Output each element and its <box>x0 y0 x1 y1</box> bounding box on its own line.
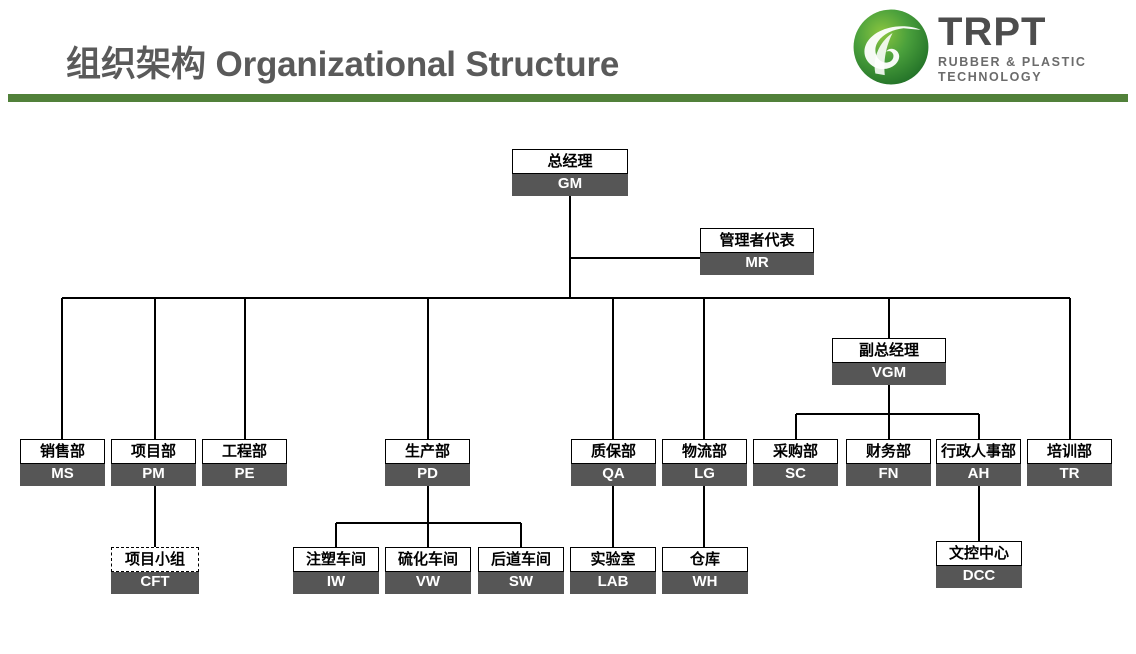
org-node-vgm-name: 副总经理 <box>832 338 946 363</box>
org-node-qa[interactable]: 质保部 QA <box>571 439 656 486</box>
org-node-mr[interactable]: 管理者代表 MR <box>700 228 814 275</box>
org-node-cft-name: 项目小组 <box>111 547 199 572</box>
org-node-iw-name: 注塑车间 <box>293 547 379 572</box>
org-node-pd-name: 生产部 <box>385 439 470 464</box>
page-title-english-text: Organizational Structure <box>216 45 620 84</box>
org-node-pm-code: PM <box>111 464 196 486</box>
org-node-sc-name: 采购部 <box>753 439 838 464</box>
slide-canvas: 组织架构 Organizational Structure TRPT RUBBE… <box>0 0 1136 654</box>
org-node-vw-name: 硫化车间 <box>385 547 471 572</box>
org-node-ms[interactable]: 销售部 MS <box>20 439 105 486</box>
trpt-leaf-emblem-icon <box>852 8 930 86</box>
org-node-gm-code: GM <box>512 174 628 196</box>
org-node-vw-code: VW <box>385 572 471 594</box>
company-logo: TRPT RUBBER & PLASTIC TECHNOLOGY <box>852 4 1124 88</box>
org-node-lab-code: LAB <box>570 572 656 594</box>
org-node-sc-code: SC <box>753 464 838 486</box>
org-node-fn-name: 财务部 <box>846 439 931 464</box>
org-node-tr[interactable]: 培训部 TR <box>1027 439 1112 486</box>
org-node-sc[interactable]: 采购部 SC <box>753 439 838 486</box>
org-node-pe[interactable]: 工程部 PE <box>202 439 287 486</box>
org-node-sw[interactable]: 后道车间 SW <box>478 547 564 594</box>
org-node-pd-code: PD <box>385 464 470 486</box>
org-node-gm-name: 总经理 <box>512 149 628 174</box>
org-node-lg[interactable]: 物流部 LG <box>662 439 747 486</box>
org-node-mr-name: 管理者代表 <box>700 228 814 253</box>
org-node-qa-name: 质保部 <box>571 439 656 464</box>
org-node-iw-code: IW <box>293 572 379 594</box>
org-node-cft-code: CFT <box>111 572 199 594</box>
logo-tagline-line1: RUBBER & PLASTIC <box>938 55 1124 70</box>
org-node-pm[interactable]: 项目部 PM <box>111 439 196 486</box>
org-node-fn[interactable]: 财务部 FN <box>846 439 931 486</box>
logo-wordmark: TRPT RUBBER & PLASTIC TECHNOLOGY <box>938 12 1124 85</box>
org-node-ms-code: MS <box>20 464 105 486</box>
org-node-ah[interactable]: 行政人事部 AH <box>936 439 1021 486</box>
org-node-pe-code: PE <box>202 464 287 486</box>
org-node-pm-name: 项目部 <box>111 439 196 464</box>
org-node-lg-name: 物流部 <box>662 439 747 464</box>
page-title-chinese: 组织架构 <box>66 45 206 85</box>
org-node-pe-name: 工程部 <box>202 439 287 464</box>
org-node-tr-code: TR <box>1027 464 1112 486</box>
org-node-sw-code: SW <box>478 572 564 594</box>
org-node-ah-name: 行政人事部 <box>936 439 1021 464</box>
org-node-ah-code: AH <box>936 464 1021 486</box>
org-node-cft[interactable]: 项目小组 CFT <box>111 547 199 594</box>
org-node-pd[interactable]: 生产部 PD <box>385 439 470 486</box>
title-underline-rule <box>8 94 1128 102</box>
org-node-dcc[interactable]: 文控中心 DCC <box>936 541 1022 588</box>
org-node-vgm-code: VGM <box>832 363 946 385</box>
org-node-wh-code: WH <box>662 572 748 594</box>
org-node-lab-name: 实验室 <box>570 547 656 572</box>
page-title-english <box>206 45 216 84</box>
org-node-vgm[interactable]: 副总经理 VGM <box>832 338 946 385</box>
org-node-dcc-code: DCC <box>936 566 1022 588</box>
org-node-ms-name: 销售部 <box>20 439 105 464</box>
org-chart: 总经理 GM 管理者代表 MR 副总经理 VGM 销售部 MS 项目部 PM 工… <box>0 104 1136 654</box>
org-node-dcc-name: 文控中心 <box>936 541 1022 566</box>
org-node-tr-name: 培训部 <box>1027 439 1112 464</box>
logo-tagline-line2: TECHNOLOGY <box>938 70 1124 85</box>
org-node-lg-code: LG <box>662 464 747 486</box>
org-node-vw[interactable]: 硫化车间 VW <box>385 547 471 594</box>
org-node-iw[interactable]: 注塑车间 IW <box>293 547 379 594</box>
slide-header: 组织架构 Organizational Structure TRPT RUBBE… <box>0 0 1136 104</box>
org-node-mr-code: MR <box>700 253 814 275</box>
org-node-fn-code: FN <box>846 464 931 486</box>
org-node-sw-name: 后道车间 <box>478 547 564 572</box>
org-node-qa-code: QA <box>571 464 656 486</box>
org-node-lab[interactable]: 实验室 LAB <box>570 547 656 594</box>
page-title: 组织架构 Organizational Structure <box>66 36 619 87</box>
org-node-wh[interactable]: 仓库 WH <box>662 547 748 594</box>
org-node-wh-name: 仓库 <box>662 547 748 572</box>
logo-brand-text: TRPT <box>938 12 1124 52</box>
org-node-gm[interactable]: 总经理 GM <box>512 149 628 196</box>
